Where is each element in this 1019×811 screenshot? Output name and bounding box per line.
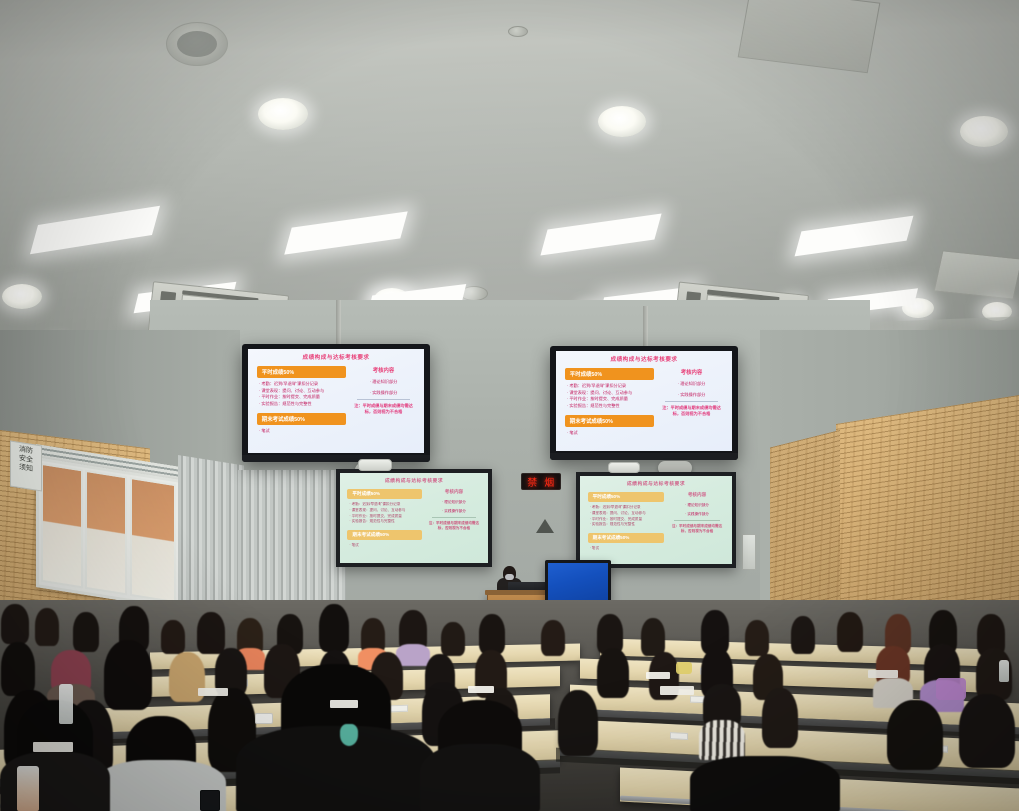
student	[166, 652, 208, 714]
smartphone	[255, 713, 273, 724]
student	[34, 608, 60, 652]
student	[556, 690, 600, 768]
paper-sheet	[330, 700, 358, 708]
slide-bullet: · 笔试	[567, 430, 578, 435]
slide-title: 成绩构成与达标考核要求	[556, 351, 732, 368]
slide-bar-top: 平时成绩50%	[588, 492, 665, 502]
slide-note: 注：平时成绩与期末成绩均需达标，否则视为不合格	[670, 524, 725, 535]
student	[398, 610, 428, 658]
smartphone	[200, 790, 220, 811]
slide-right-line: · 实践操作部分	[670, 512, 725, 517]
student	[836, 612, 864, 658]
slide-divider	[357, 399, 410, 400]
ceiling-downlight	[2, 284, 42, 309]
slide-bullet: · 实验报告：规范性与完整性	[567, 403, 654, 410]
slide-note: 注：平时成绩与期末成绩均需达标，否则视为不合格	[660, 405, 723, 418]
slide-right-line: · 实践操作部分	[352, 390, 415, 396]
seat-label	[670, 732, 688, 740]
student	[540, 620, 566, 662]
student	[954, 694, 1019, 790]
water-bottle	[59, 684, 73, 724]
monitor-screen	[548, 563, 608, 602]
student-foreground	[420, 700, 540, 811]
slide-title: 成绩构成与达标考核要求	[340, 473, 488, 489]
window-pane	[85, 470, 127, 596]
slide-bullet: · 笔试	[590, 546, 599, 550]
water-bottle	[17, 766, 39, 811]
slide-bar-bottom: 期末考试成绩50%	[588, 533, 665, 543]
slide-right-line: · 理论知识部分	[427, 500, 480, 505]
student	[760, 688, 800, 758]
slide-bar-top: 平时成绩50%	[257, 366, 346, 378]
student-foreground	[690, 756, 840, 811]
student	[880, 700, 950, 790]
ceiling-downlight	[960, 116, 1008, 147]
slide-title: 成绩构成与达标考核要求	[580, 476, 732, 492]
window-frame	[36, 457, 182, 610]
ceiling-mounted-tv-right[interactable]: 成绩构成与达标考核要求 平时成绩50% · 考勤：迟到/早退/旷课扣分记录 · …	[550, 346, 738, 460]
wall-projection-screen-right[interactable]: 成绩构成与达标考核要求 平时成绩50% · 考勤：迟到/早退/旷课扣分记录 · …	[576, 472, 736, 568]
ceiling-vent-panel	[934, 250, 1019, 299]
slide-bullet: · 笔试	[349, 543, 358, 547]
presenter-face-mask	[505, 574, 514, 580]
slide-divider	[674, 520, 720, 521]
paper-sheet	[660, 686, 694, 695]
slide-divider	[665, 401, 718, 402]
student	[648, 652, 680, 708]
paper-sheet	[33, 742, 73, 752]
slide-content: 成绩构成与达标考核要求 平时成绩50% · 考勤：迟到/早退/旷课扣分记录 · …	[340, 473, 488, 563]
slide-title: 成绩构成与达标考核要求	[248, 349, 424, 366]
slide-note: 注：平时成绩与期末成绩均需达标，否则视为不合格	[427, 521, 480, 532]
student-foreground	[236, 664, 436, 811]
ceiling-speaker-icon	[166, 22, 228, 66]
lecture-hall-photo: 消防 安全 须知 禁 烟 成绩构成与达标考核要求 平时成绩50% · 考勤：迟到…	[0, 0, 1019, 811]
wall-switch-panel[interactable]	[742, 534, 756, 570]
slide-right-line: · 实践操作部分	[427, 509, 480, 514]
slide-right-line: · 理论知识部分	[660, 381, 723, 387]
tv-mount-arm	[643, 306, 648, 348]
window-pane	[41, 463, 83, 589]
slide-right-title: 考核内容	[670, 492, 725, 498]
slide-bullet: · 笔试	[259, 428, 270, 433]
paper-sheet	[468, 686, 494, 693]
slide-bullet: · 实验报告：规范性与完整性	[259, 401, 346, 408]
paper-sheet	[868, 670, 898, 678]
wall-sign: 消防 安全 须知	[10, 440, 42, 491]
slide-right-line: · 理论知识部分	[670, 503, 725, 508]
slide-bullet: · 实验报告：规范性与完整性	[590, 522, 665, 528]
wall-cone-marker-icon	[536, 519, 554, 533]
slide-content: 成绩构成与达标考核要求 平时成绩50% · 考勤：迟到/早退/旷课扣分记录 · …	[556, 351, 732, 451]
student	[700, 684, 744, 758]
slide-bar-bottom: 期末考试成绩50%	[565, 415, 654, 427]
ceiling-downlight	[598, 106, 646, 137]
student	[790, 616, 816, 660]
snack-item	[676, 662, 692, 674]
led-sign: 禁 烟	[521, 473, 561, 490]
slide-bar-top: 平时成绩50%	[565, 368, 654, 380]
face-mask	[340, 724, 358, 746]
window-pane	[130, 477, 176, 603]
projector-housing	[358, 459, 392, 471]
tv-mount-arm	[336, 300, 341, 346]
slide-right-title: 考核内容	[352, 366, 415, 374]
smoke-detector-icon	[508, 26, 528, 37]
slide-right-line: · 理论知识部分	[352, 379, 415, 385]
student	[596, 648, 630, 706]
paper-sheet	[646, 672, 670, 679]
slide-bar-bottom: 期末考试成绩50%	[257, 413, 346, 425]
slide-bullet: · 实验报告：规范性与完整性	[349, 519, 422, 525]
wall-projection-screen-left[interactable]: 成绩构成与达标考核要求 平时成绩50% · 考勤：迟到/早退/旷课扣分记录 · …	[336, 469, 492, 567]
bag-item	[936, 678, 966, 700]
ceiling-downlight	[258, 98, 308, 130]
slide-bar-top: 平时成绩50%	[347, 489, 422, 499]
paper-sheet	[198, 688, 228, 696]
water-bottle	[999, 660, 1009, 682]
slide-content: 成绩构成与达标考核要求 平时成绩50% · 考勤：迟到/早退/旷课扣分记录 · …	[248, 349, 424, 453]
slide-bar-bottom: 期末考试成绩50%	[347, 530, 422, 540]
slide-right-line: · 实践操作部分	[660, 392, 723, 398]
slide-divider	[432, 517, 477, 518]
slide-right-title: 考核内容	[660, 368, 723, 376]
slide-note: 注：平时成绩与期末成绩均需达标，否则视为不合格	[352, 403, 415, 416]
podium-monitor[interactable]	[545, 560, 611, 605]
slide-right-title: 考核内容	[427, 489, 480, 495]
slide-content: 成绩构成与达标考核要求 平时成绩50% · 考勤：迟到/早退/旷课扣分记录 · …	[580, 476, 732, 564]
projector-housing	[608, 462, 640, 473]
ceiling-mounted-tv-left[interactable]: 成绩构成与达标考核要求 平时成绩50% · 考勤：迟到/早退/旷课扣分记录 · …	[242, 344, 430, 462]
